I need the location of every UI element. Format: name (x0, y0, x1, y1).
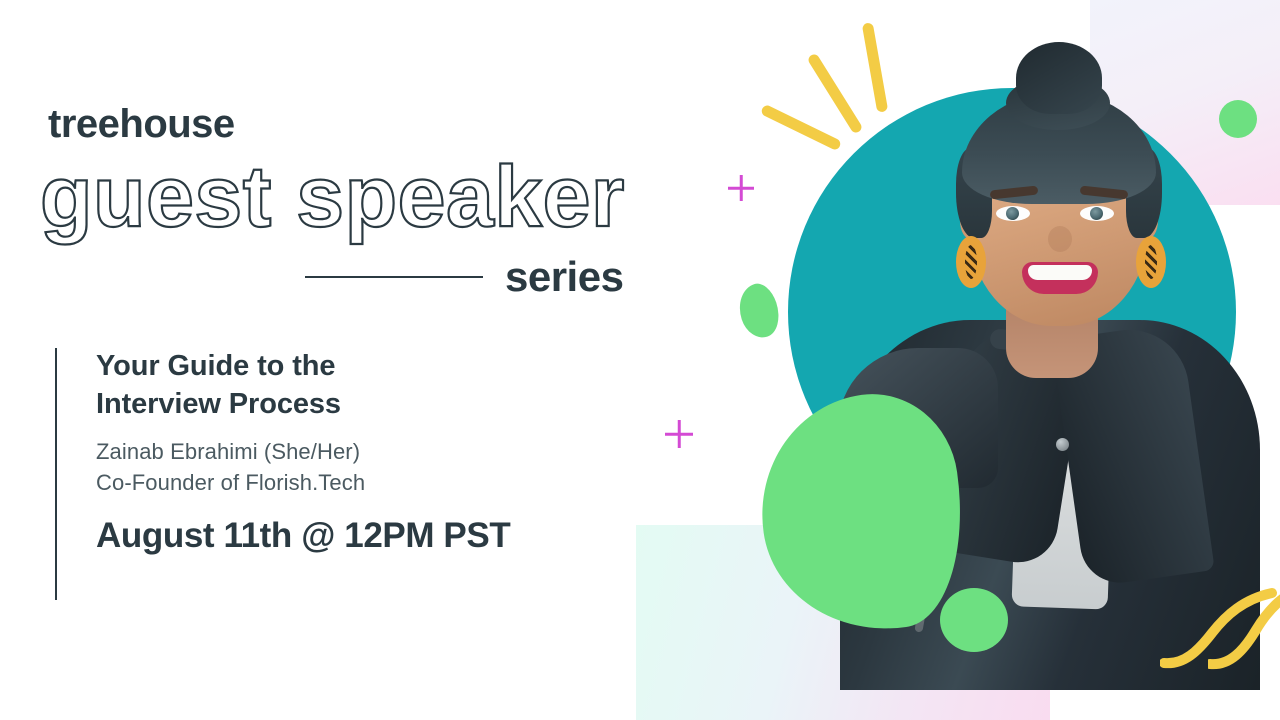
earring-right-icon (1136, 236, 1166, 288)
talk-title-line-1: Your Guide to the (96, 350, 335, 382)
jacket-zipper-pull-icon (916, 498, 942, 527)
speaker-portrait (830, 30, 1260, 690)
eye-right-icon (1080, 206, 1114, 221)
magenta-plus-mark-icon (665, 420, 693, 448)
nose-icon (1048, 226, 1072, 252)
portrait-figure (830, 30, 1260, 690)
iris-icon (1090, 207, 1103, 220)
series-divider-rule (305, 276, 483, 278)
speaker-name: Zainab Ebrahimi (She/Her) (96, 437, 510, 467)
magenta-plus-mark-icon (728, 175, 754, 201)
earring-left-icon (956, 236, 986, 288)
iris-icon (1006, 207, 1019, 220)
talk-title-line-2: Interview Process (96, 388, 341, 420)
headline-outline-text: guest speaker (40, 152, 625, 242)
hair-bun-icon (1016, 42, 1102, 114)
teeth-icon (1028, 265, 1092, 280)
eye-left-icon (996, 206, 1030, 221)
jacket-stud-icon (1056, 438, 1069, 451)
smile-icon (1022, 262, 1098, 294)
text-column: treehouse guest speaker series Your Guid… (0, 0, 660, 720)
brand-logo-text: treehouse (48, 104, 235, 144)
jacket-shoulder-icon (838, 348, 998, 488)
series-row: series (305, 256, 625, 298)
speaker-role: Co-Founder of Florish.Tech (96, 468, 510, 498)
green-blob-small-icon (733, 279, 786, 342)
talk-title: Your Guide to the Interview Process (96, 348, 510, 423)
event-details-block: Your Guide to the Interview Process Zain… (55, 348, 510, 600)
guest-speaker-promo-slide: treehouse guest speaker series Your Guid… (0, 0, 1280, 720)
series-label: series (505, 256, 623, 298)
event-date-time: August 11th @ 12PM PST (96, 518, 510, 553)
